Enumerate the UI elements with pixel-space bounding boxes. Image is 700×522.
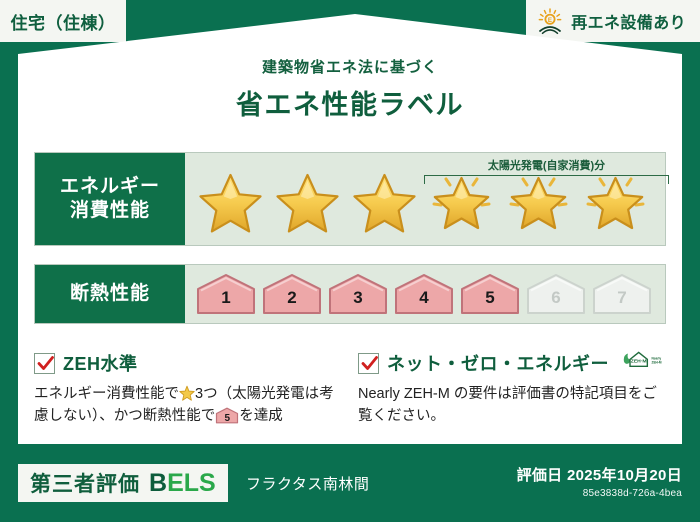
insulation-level-value: 6 [525,288,587,308]
insulation-level-value: 3 [327,288,389,308]
star-rating [185,169,653,235]
third-party-eval-label: 第三者評価 [30,468,140,498]
energy-performance-row: エネルギー 消費性能 [34,152,666,246]
zeh-text-a: エネルギー消費性能で [34,386,179,402]
insulation-level-value: 4 [393,288,455,308]
bels-logo-first: B [149,469,167,497]
net-zero-energy-checkbox [358,353,379,374]
star-icon-solar [578,169,653,235]
insulation-level-chip: 1 [195,272,257,316]
title-main: 省エネ性能ラベル [0,83,700,122]
insulation-level-chip: 7 [591,272,653,316]
net-zero-energy-header: ネット・ゼロ・エネルギー ZEH·M Nearly ZEH-M [358,350,664,376]
bels-logo-rest: ELS [167,469,216,497]
evaluation-date: 評価日 2025年10月20日 [517,464,682,485]
insulation-label-text: 断熱性能 [70,282,150,306]
zeh-standard-checkbox [34,353,55,374]
evaluation-id: 85e3838d-726a-4bea [517,488,682,499]
net-zero-energy-title: ネット・ゼロ・エネルギー [387,350,609,376]
insulation-level-chip: 5 [459,272,521,316]
star-icon [347,169,422,235]
insulation-level-chip: 3 [327,272,389,316]
insulation-level-value: 1 [195,288,257,308]
insulation-level-chip: 6 [525,272,587,316]
energy-label-line2: 消費性能 [70,199,150,223]
zeh-standard-description: エネルギー消費性能で3つ（太陽光発電は考慮しない）、かつ断熱性能で5を達成 [34,383,334,428]
energy-performance-body: 太陽光発電(自家消費)分 [185,153,665,245]
inline-chip-value: 5 [215,411,239,427]
renewable-equipment-badge: E 再エネ設備あり [526,0,700,42]
evaluation-info: 評価日 2025年10月20日 85e3838d-726a-4bea [517,464,682,499]
insulation-level-value: 5 [459,288,521,308]
category-tag-label: 住宅（住棟） [11,9,116,34]
evaluation-date-value: 2025年10月20日 [567,467,682,484]
net-zero-energy-block: ネット・ゼロ・エネルギー ZEH·M Nearly ZEH-M Nearly Z… [358,350,664,428]
star-icon [270,169,345,235]
star-icon [193,169,268,235]
insulation-level-scale: 1 2 3 4 5 [185,272,653,316]
insulation-level-value: 7 [591,288,653,308]
title-subtitle: 建築物省エネ法に基づく [0,56,700,77]
solar-sun-icon: E [536,7,564,35]
star-icon-solar [424,169,499,235]
building-name: フラクタス南林間 [246,464,369,502]
title-block: 建築物省エネ法に基づく 省エネ性能ラベル [0,56,700,122]
insulation-performance-label: 断熱性能 [35,265,185,323]
star-icon-solar [501,169,576,235]
inline-star-icon [179,385,195,401]
insulation-performance-row: 断熱性能 1 2 3 4 [34,264,666,324]
label-footer: 第三者評価 BELS フラクタス南林間 評価日 2025年10月20日 85e3… [0,456,700,522]
zeh-text-c: を達成 [239,408,283,424]
evaluation-date-label: 評価日 [517,467,563,484]
bels-logo: BELS [149,471,216,496]
inline-insulation-chip: 5 [215,407,239,424]
insulation-level-chip: 2 [261,272,323,316]
insulation-level-chip: 4 [393,272,455,316]
energy-performance-label: エネルギー 消費性能 [35,153,185,245]
net-zero-energy-description: Nearly ZEH-M の要件は評価書の特記項目をご覧ください。 [358,383,664,428]
zeh-standard-title: ZEH水準 [63,350,138,376]
zeh-standard-header: ZEH水準 [34,350,334,376]
energy-performance-label: 住宅（住棟） E 再エネ設備あり [0,0,700,522]
zeh-standard-block: ZEH水準 エネルギー消費性能で3つ（太陽光発電は考慮しない）、かつ断熱性能で5… [34,350,334,428]
zeh-m-logo-icon: ZEH·M Nearly ZEH-M [621,350,664,376]
svg-text:ZEH·M: ZEH·M [631,358,647,364]
category-tag: 住宅（住棟） [0,0,126,42]
energy-label-line1: エネルギー [60,175,160,199]
insulation-level-value: 2 [261,288,323,308]
svg-text:ZEH-M: ZEH-M [652,361,662,365]
bels-certification-plate: 第三者評価 BELS [18,464,228,502]
svg-text:E: E [548,17,552,24]
insulation-performance-body: 1 2 3 4 5 [185,265,665,323]
renewable-badge-label: 再エネ設備あり [571,9,686,33]
